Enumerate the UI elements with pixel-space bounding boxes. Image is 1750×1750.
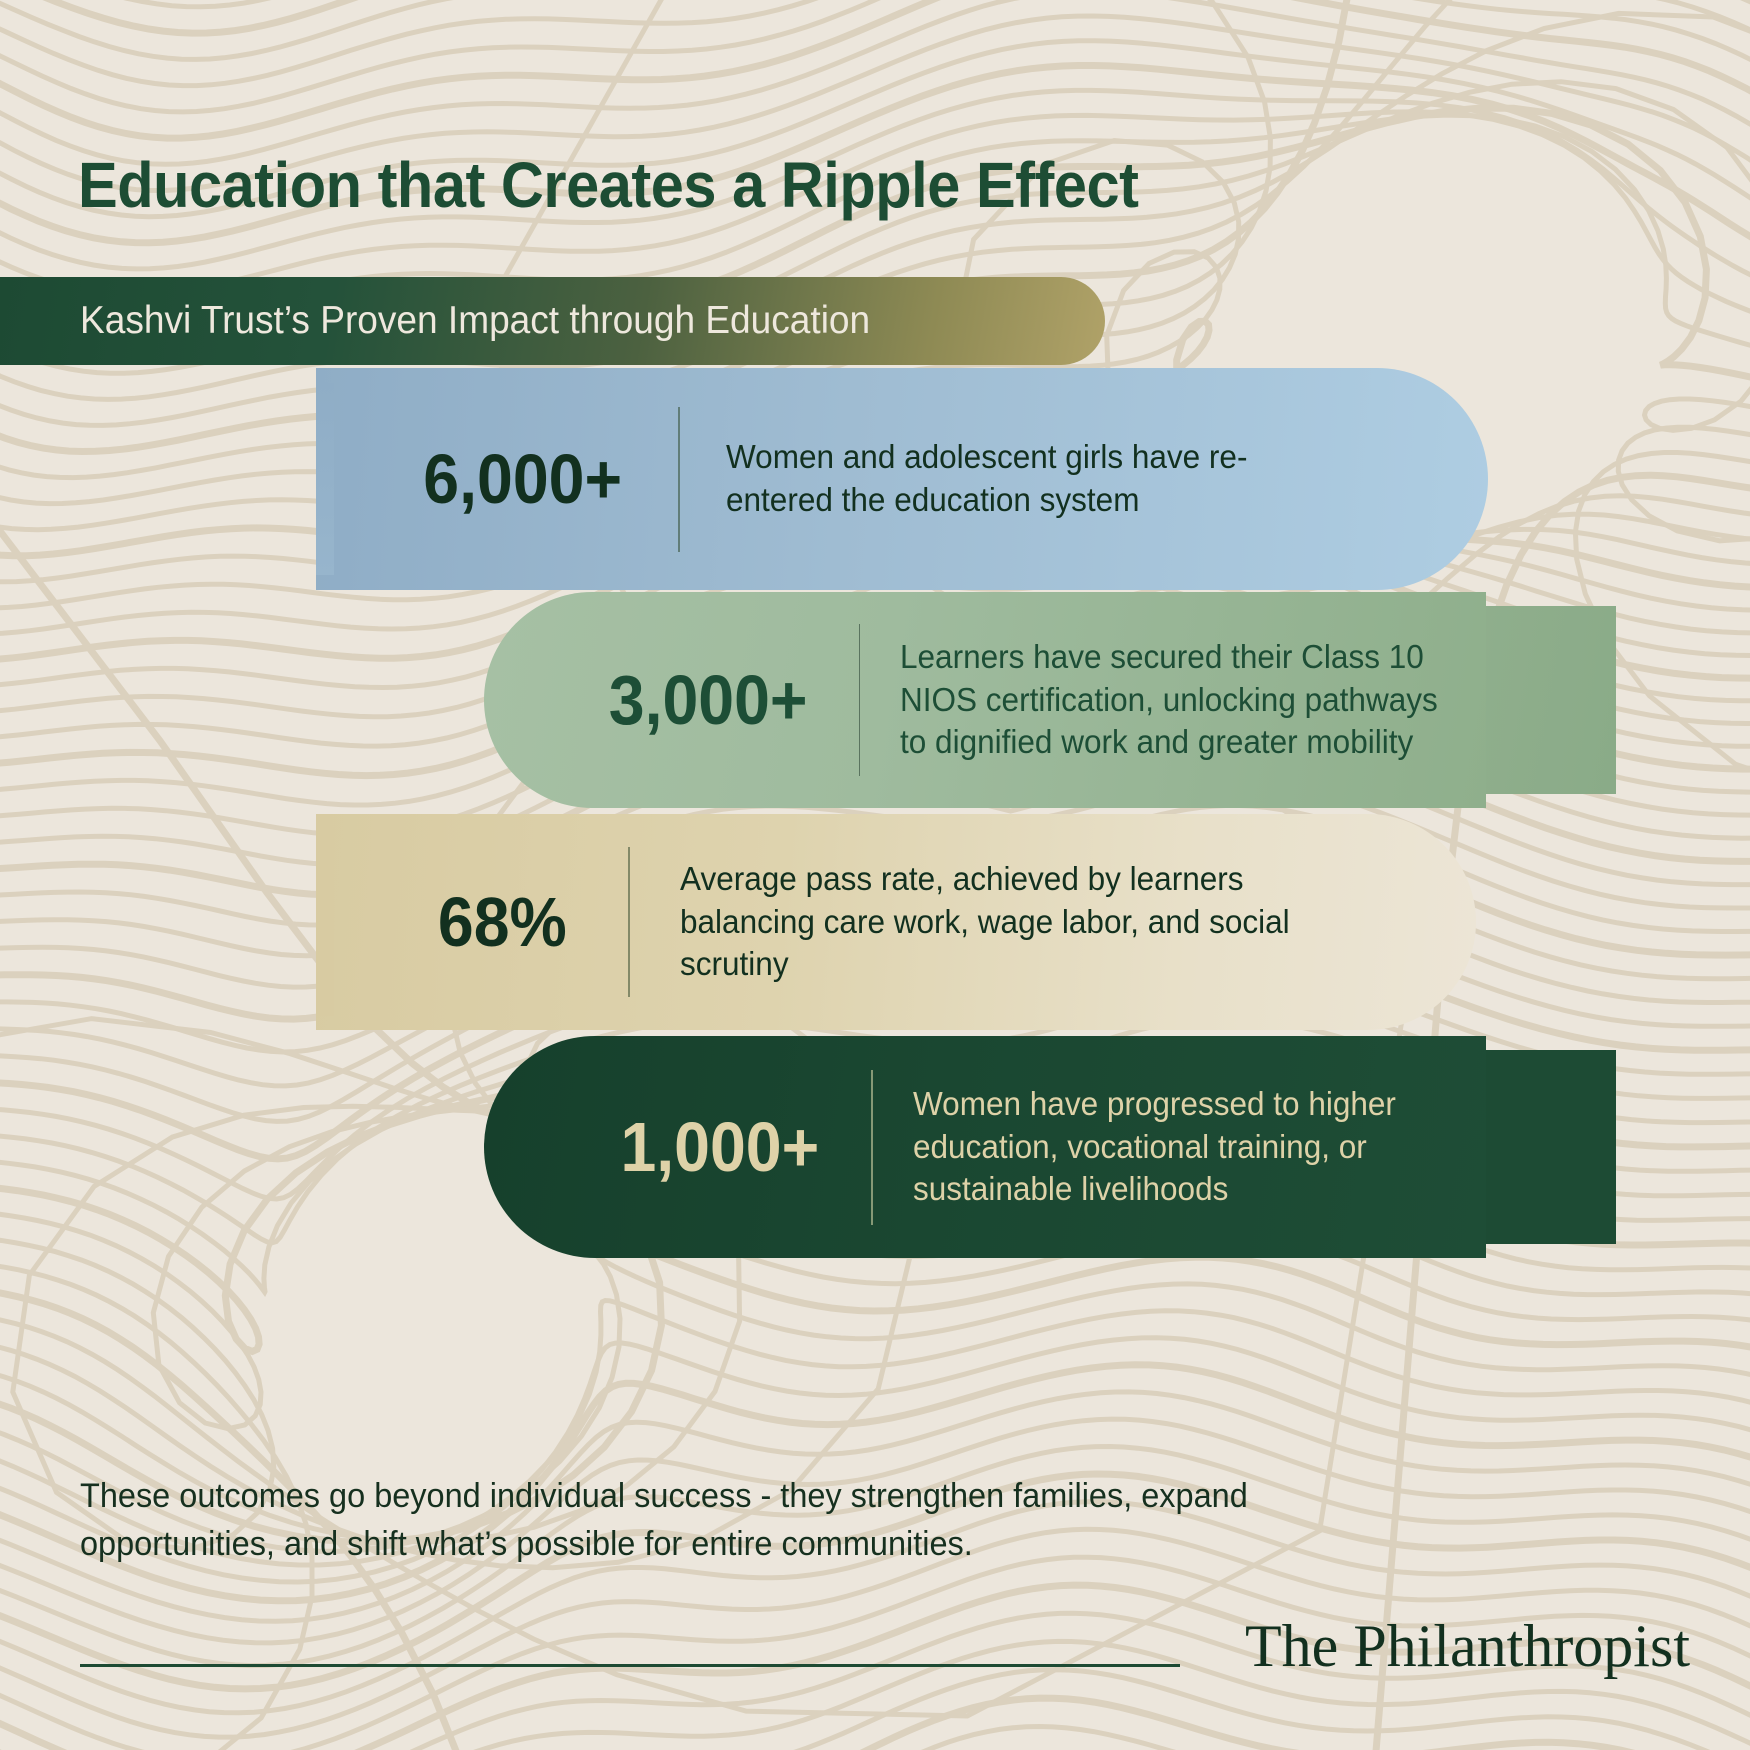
page-title: Education that Creates a Ripple Effect xyxy=(78,148,1139,222)
stat-bar-4-description: Women have progressed to higher educatio… xyxy=(913,1083,1461,1212)
subtitle-text: Kashvi Trust’s Proven Impact through Edu… xyxy=(80,299,870,343)
stat-bar-4-divider xyxy=(871,1070,873,1225)
stat-bar-3-value: 68% xyxy=(355,882,567,962)
closing-paragraph: These outcomes go beyond individual succ… xyxy=(80,1472,1255,1569)
stat-bar-2-divider xyxy=(859,624,861,776)
stat-bar-2: 3,000+ Learners have secured their Class… xyxy=(484,592,1486,808)
stat-bar-2-step xyxy=(1486,606,1616,794)
stat-bar-1-notch xyxy=(316,383,334,575)
stat-bar-4: 1,000+ Women have progressed to higher e… xyxy=(484,1036,1486,1258)
stat-bar-1-value: 6,000+ xyxy=(348,439,622,519)
footer-divider-rule xyxy=(80,1664,1180,1667)
stat-bar-3-description: Average pass rate, achieved by learners … xyxy=(680,858,1310,987)
footer-logo: The Philanthropist xyxy=(1245,1612,1690,1681)
stat-bar-3-notch xyxy=(316,828,334,1016)
stat-bar-2-description: Learners have secured their Class 10 NIO… xyxy=(900,636,1459,765)
stat-bar-4-step xyxy=(1486,1050,1616,1244)
subtitle-banner: Kashvi Trust’s Proven Impact through Edu… xyxy=(0,277,1105,365)
stat-bar-1-divider xyxy=(678,407,680,552)
stat-bar-1-description: Women and adolescent girls have re-enter… xyxy=(726,436,1261,522)
stat-bar-1: 6,000+ Women and adolescent girls have r… xyxy=(316,368,1488,590)
stat-bar-2-value: 3,000+ xyxy=(555,660,808,740)
stat-bar-3-divider xyxy=(628,847,630,997)
stat-bar-4-value: 1,000+ xyxy=(555,1107,819,1187)
stat-bar-3: 68% Average pass rate, achieved by learn… xyxy=(316,814,1476,1030)
